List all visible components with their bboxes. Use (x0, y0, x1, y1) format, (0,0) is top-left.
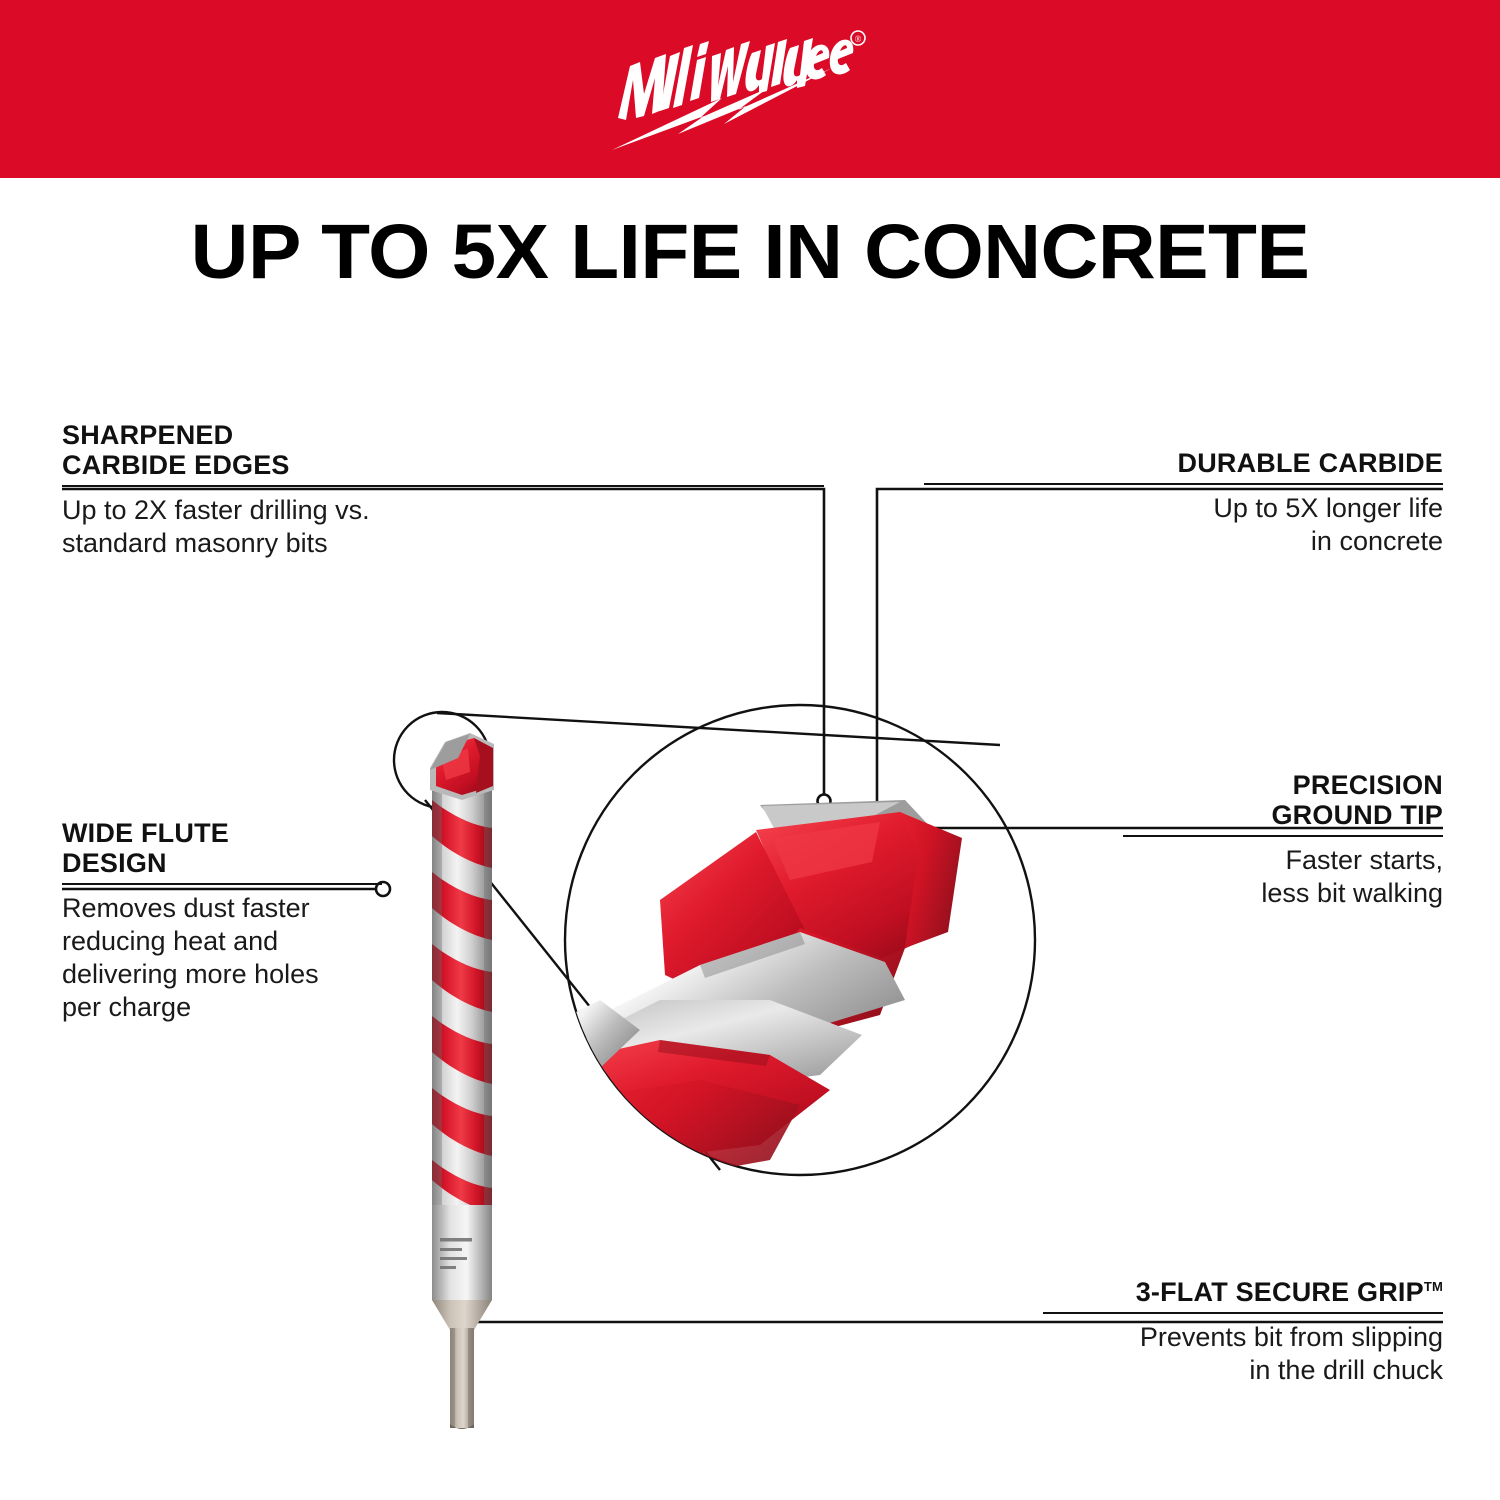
callout-title-text: 3-FLAT SECURE GRIP (1136, 1277, 1424, 1307)
registered-mark: ® (855, 34, 862, 44)
callout-body-line-1: Removes dust faster (62, 892, 382, 925)
callout-body-line-2: reducing heat and (62, 925, 382, 958)
callout-precision-ground-tip: PRECISION GROUND TIP Faster starts, less… (1123, 770, 1443, 910)
callout-title-line-1: DURABLE CARBIDE (1043, 448, 1443, 478)
callout-body-line-2: less bit walking (1123, 877, 1443, 910)
callout-title: PRECISION GROUND TIP (1123, 770, 1443, 830)
callout-title-line-2: DESIGN (62, 848, 382, 878)
leader-dot-grip (461, 1315, 475, 1329)
magnifier-construction (394, 705, 1035, 1175)
magnified-tip-art (556, 800, 962, 1180)
leader-dot-sharpened (818, 795, 831, 808)
callout-body-line-1: Up to 2X faster drilling vs. (62, 494, 462, 527)
magnifier-lens-circle (565, 705, 1035, 1175)
leader-dot-precision (897, 822, 910, 835)
callout-title-line-2: GROUND TIP (1123, 800, 1443, 830)
product-infographic: ® UP TO 5X LIFE IN CONCRETE (0, 0, 1500, 1500)
callout-body-line-1: Faster starts, (1123, 844, 1443, 877)
magnifier-source-circle (394, 712, 490, 808)
callout-title-line-1: PRECISION (1123, 770, 1443, 800)
page-headline: UP TO 5X LIFE IN CONCRETE (0, 208, 1500, 296)
callout-title: WIDE FLUTE DESIGN (62, 818, 382, 878)
callout-body: Faster starts, less bit walking (1123, 844, 1443, 910)
callout-divider (62, 883, 382, 885)
callout-body-line-2: in the drill chuck (1043, 1354, 1443, 1387)
callout-body: Up to 5X longer life in concrete (1043, 492, 1443, 558)
callout-body-line-1: Up to 5X longer life (1043, 492, 1443, 525)
callout-body: Removes dust faster reducing heat and de… (62, 892, 382, 1024)
drill-bit-product-art (430, 733, 494, 1429)
callout-body-line-2: standard masonry bits (62, 527, 462, 560)
callout-body: Prevents bit from slipping in the drill … (1043, 1321, 1443, 1387)
trademark-symbol: TM (1424, 1279, 1443, 1294)
callout-body-line-2: in concrete (1043, 525, 1443, 558)
callout-divider (1043, 1312, 1443, 1314)
callout-body-line-4: per charge (62, 991, 382, 1024)
callout-body: Up to 2X faster drilling vs. standard ma… (62, 494, 462, 560)
callout-title: DURABLE CARBIDE (1043, 448, 1443, 478)
leader-dot-group (376, 795, 910, 1330)
callout-title-line-1: 3-FLAT SECURE GRIPTM (1043, 1272, 1443, 1307)
callout-three-flat-secure-grip: 3-FLAT SECURE GRIPTM Prevents bit from s… (1043, 1272, 1443, 1387)
callout-sharpened-carbide-edges: SHARPENED CARBIDE EDGES Up to 2X faster … (62, 420, 462, 560)
callout-body-line-3: delivering more holes (62, 958, 382, 991)
callout-divider (924, 483, 1443, 485)
callout-title-line-2: CARBIDE EDGES (62, 450, 462, 480)
leader-dot-durable (871, 827, 884, 840)
callout-title: SHARPENED CARBIDE EDGES (62, 420, 462, 480)
callout-divider (62, 485, 824, 487)
callout-title: 3-FLAT SECURE GRIPTM (1043, 1272, 1443, 1307)
callout-wide-flute-design: WIDE FLUTE DESIGN Removes dust faster re… (62, 818, 382, 1024)
callout-title-line-1: WIDE FLUTE (62, 818, 382, 848)
magnifier-tangent-top (437, 713, 1000, 745)
milwaukee-logo: ® (600, 22, 910, 162)
callout-title-line-1: SHARPENED (62, 420, 462, 450)
shank-engraving (440, 1238, 472, 1269)
callout-body-line-1: Prevents bit from slipping (1043, 1321, 1443, 1354)
callout-durable-carbide: DURABLE CARBIDE Up to 5X longer life in … (1043, 448, 1443, 558)
callout-divider (1123, 835, 1443, 837)
magnifier-tangent-bottom (425, 800, 720, 1170)
brand-header-band: ® (0, 0, 1500, 178)
